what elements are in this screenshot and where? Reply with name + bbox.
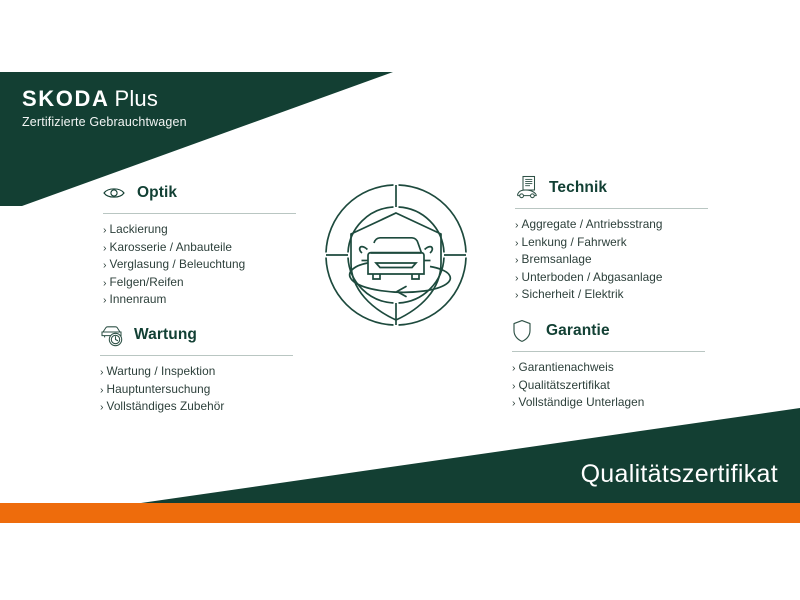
shield-icon: [512, 318, 540, 344]
list-item-label: Bremsanlage: [522, 252, 592, 266]
list-item: ›Innenraum: [103, 291, 303, 309]
section-optik: Optik ›Lackierung ›Karosserie / Anbautei…: [103, 180, 303, 309]
car-clock-icon: [100, 322, 128, 348]
certificate-graphic: SKODAPlus Zertifizierte Gebrauchtwagen O…: [0, 0, 800, 600]
brand-name: SKODA: [22, 86, 109, 111]
list-item-label: Vollständige Unterlagen: [519, 395, 645, 409]
section-wartung: Wartung ›Wartung / Inspektion ›Hauptunte…: [100, 322, 300, 416]
chevron-right-icon: ›: [100, 401, 104, 413]
list-item: ›Felgen/Reifen: [103, 274, 303, 292]
section-divider: [100, 355, 293, 356]
section-header: Optik: [103, 180, 303, 206]
section-list: ›Lackierung ›Karosserie / Anbauteile ›Ve…: [103, 221, 303, 309]
page-title: Qualitätszertifikat: [581, 460, 778, 489]
list-item: ›Unterboden / Abgasanlage: [515, 269, 715, 287]
chevron-right-icon: ›: [512, 397, 516, 409]
section-list: ›Garantienachweis ›Qualitätszertifikat ›…: [512, 359, 712, 412]
section-header: Garantie: [512, 318, 712, 344]
section-list: ›Wartung / Inspektion ›Hauptuntersuchung…: [100, 363, 300, 416]
list-item-label: Qualitätszertifikat: [519, 378, 610, 392]
list-item: ›Hauptuntersuchung: [100, 381, 300, 399]
list-item: ›Verglasung / Beleuchtung: [103, 256, 303, 274]
list-item-label: Verglasung / Beleuchtung: [110, 257, 246, 271]
chevron-right-icon: ›: [515, 272, 519, 284]
list-item: ›Karosserie / Anbauteile: [103, 239, 303, 257]
chevron-right-icon: ›: [103, 224, 107, 236]
list-item: ›Garantienachweis: [512, 359, 712, 377]
list-item-label: Innenraum: [110, 292, 167, 306]
section-title: Wartung: [134, 326, 197, 344]
section-divider: [512, 351, 705, 352]
chevron-right-icon: ›: [512, 362, 516, 374]
list-item: ›Lenkung / Fahrwerk: [515, 234, 715, 252]
section-title: Technik: [549, 179, 607, 197]
list-item-label: Aggregate / Antriebsstrang: [522, 217, 663, 231]
list-item-label: Hauptuntersuchung: [107, 382, 211, 396]
chevron-right-icon: ›: [512, 380, 516, 392]
chevron-right-icon: ›: [100, 366, 104, 378]
list-item-label: Wartung / Inspektion: [107, 364, 216, 378]
orange-bar: [0, 503, 800, 523]
car-document-icon: [515, 175, 543, 201]
section-header: Technik: [515, 175, 715, 201]
list-item-label: Sicherheit / Elektrik: [522, 287, 624, 301]
chevron-right-icon: ›: [103, 294, 107, 306]
chevron-right-icon: ›: [515, 219, 519, 231]
list-item-label: Vollständiges Zubehör: [107, 399, 225, 413]
list-item-label: Felgen/Reifen: [110, 275, 184, 289]
list-item: ›Bremsanlage: [515, 251, 715, 269]
section-garantie: Garantie ›Garantienachweis ›Qualitätszer…: [512, 318, 712, 412]
chevron-right-icon: ›: [515, 237, 519, 249]
section-divider: [515, 208, 708, 209]
brand-name-row: SKODAPlus: [22, 88, 187, 110]
chevron-right-icon: ›: [103, 242, 107, 254]
list-item-label: Lenkung / Fahrwerk: [522, 235, 627, 249]
brand-tagline: Zertifizierte Gebrauchtwagen: [22, 116, 187, 129]
list-item-label: Karosserie / Anbauteile: [110, 240, 232, 254]
section-divider: [103, 213, 296, 214]
list-item-label: Unterboden / Abgasanlage: [522, 270, 663, 284]
chevron-right-icon: ›: [100, 384, 104, 396]
eye-icon: [103, 180, 131, 206]
brand-lockup: SKODAPlus Zertifizierte Gebrauchtwagen: [22, 88, 187, 129]
list-item: ›Lackierung: [103, 221, 303, 239]
list-item: ›Vollständige Unterlagen: [512, 394, 712, 412]
list-item: ›Wartung / Inspektion: [100, 363, 300, 381]
section-list: ›Aggregate / Antriebsstrang ›Lenkung / F…: [515, 216, 715, 304]
list-item: ›Aggregate / Antriebsstrang: [515, 216, 715, 234]
chevron-right-icon: ›: [515, 289, 519, 301]
section-header: Wartung: [100, 322, 300, 348]
list-item-label: Garantienachweis: [519, 360, 614, 374]
list-item-label: Lackierung: [110, 222, 168, 236]
section-technik: Technik ›Aggregate / Antriebsstrang ›Len…: [515, 175, 715, 304]
section-title: Garantie: [546, 322, 610, 340]
brand-suffix: Plus: [114, 86, 158, 111]
list-item: ›Vollständiges Zubehör: [100, 398, 300, 416]
chevron-right-icon: ›: [515, 254, 519, 266]
list-item: ›Sicherheit / Elektrik: [515, 286, 715, 304]
chevron-right-icon: ›: [103, 277, 107, 289]
car-shield-ring-icon: [304, 163, 488, 379]
list-item: ›Qualitätszertifikat: [512, 377, 712, 395]
chevron-right-icon: ›: [103, 259, 107, 271]
section-title: Optik: [137, 184, 177, 202]
